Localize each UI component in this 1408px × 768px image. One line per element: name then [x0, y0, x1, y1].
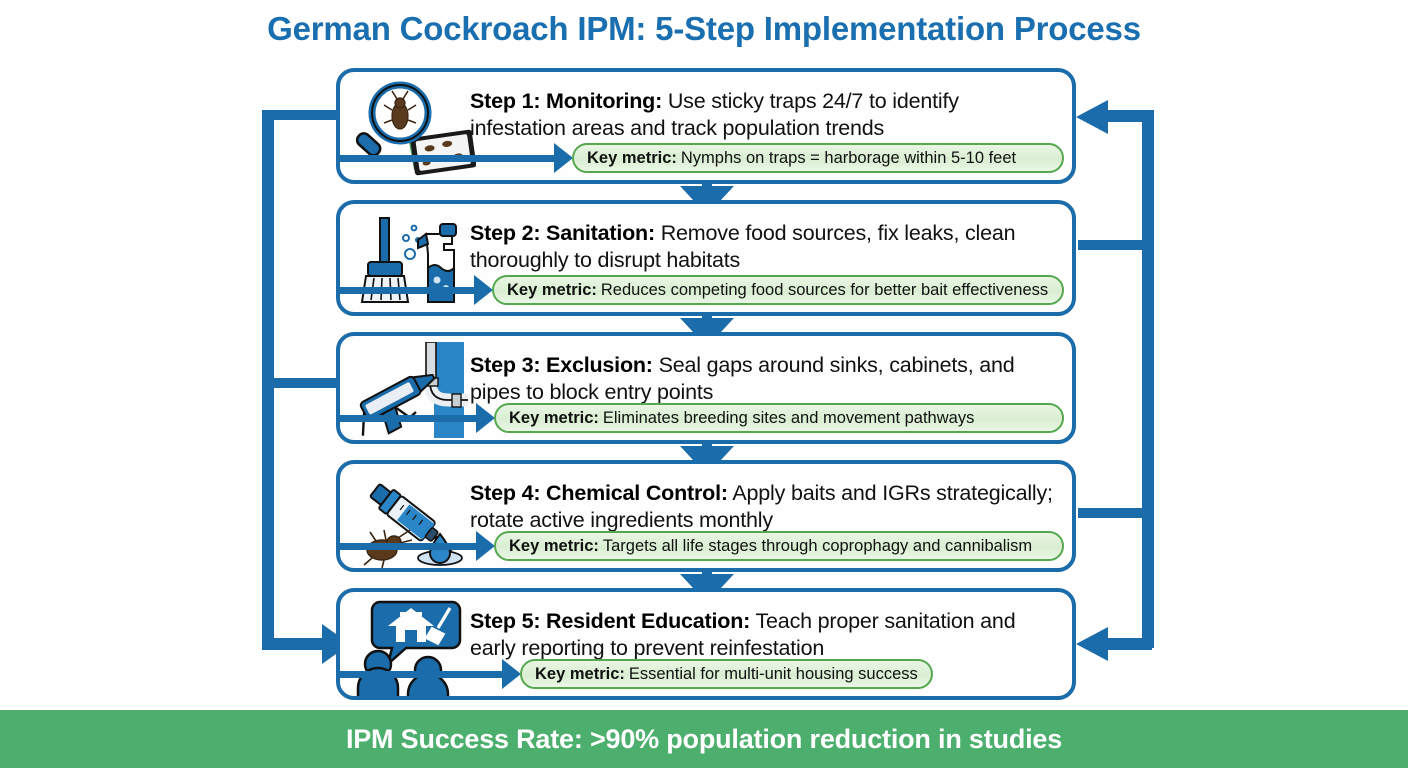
metric-label-2: Key metric:	[507, 281, 597, 300]
metric-value-3: Eliminates breeding sites and movement p…	[603, 409, 974, 428]
metric-label-5: Key metric:	[535, 665, 625, 684]
metric-label-1: Key metric:	[587, 149, 677, 168]
pill-arrow-4	[476, 531, 495, 561]
pill-arrow-2	[474, 275, 493, 305]
process-flow-diagram: Step 1: Monitoring: Use sticky traps 24/…	[0, 0, 1408, 710]
step-card-5[interactable]: Step 5: Resident Education: Teach proper…	[336, 588, 1076, 700]
step-heading-4: Step 4: Chemical Control:	[470, 481, 728, 505]
pill-lead-line-2	[340, 287, 480, 294]
pill-lead-line-5	[340, 671, 508, 678]
step-text-4: Step 4: Chemical Control: Apply baits an…	[470, 480, 1060, 534]
step-text-3: Step 3: Exclusion: Seal gaps around sink…	[470, 352, 1060, 406]
syringe-bait-cockroach-icon	[348, 470, 476, 570]
pill-arrow-3	[476, 403, 495, 433]
caulk-gun-pipe-icon	[348, 342, 476, 442]
key-metric-pill-5: Key metric: Essential for multi-unit hou…	[520, 659, 933, 689]
metric-value-2: Reduces competing food sources for bette…	[601, 281, 1048, 300]
metric-label-3: Key metric:	[509, 409, 599, 428]
metric-value-1: Nymphs on traps = harborage within 5-10 …	[681, 149, 1016, 168]
step-text-2: Step 2: Sanitation: Remove food sources,…	[470, 220, 1060, 274]
key-metric-pill-1: Key metric: Nymphs on traps = harborage …	[572, 143, 1064, 173]
step-card-2[interactable]: Step 2: Sanitation: Remove food sources,…	[336, 200, 1076, 316]
step-heading-3: Step 3: Exclusion:	[470, 353, 653, 377]
step-card-3[interactable]: Step 3: Exclusion: Seal gaps around sink…	[336, 332, 1076, 444]
pill-lead-line-3	[340, 415, 482, 422]
step-text-5: Step 5: Resident Education: Teach proper…	[470, 608, 1060, 662]
step-heading-2: Step 2: Sanitation:	[470, 221, 655, 245]
metric-label-4: Key metric:	[509, 537, 599, 556]
key-metric-pill-3: Key metric: Eliminates breeding sites an…	[494, 403, 1064, 433]
pill-arrow-5	[502, 659, 521, 689]
step-text-1: Step 1: Monitoring: Use sticky traps 24/…	[470, 88, 1060, 142]
pill-arrow-1	[554, 143, 573, 173]
magnifier-cockroach-sticky-trap-icon	[348, 78, 476, 178]
step-heading-5: Step 5: Resident Education:	[470, 609, 750, 633]
footer-banner: IPM Success Rate: >90% population reduct…	[0, 710, 1408, 768]
pill-lead-line-4	[340, 543, 482, 550]
step-heading-1: Step 1: Monitoring:	[470, 89, 662, 113]
people-speech-bubble-house-broom-icon	[348, 598, 476, 698]
step-card-4[interactable]: Step 4: Chemical Control: Apply baits an…	[336, 460, 1076, 572]
step-card-1[interactable]: Step 1: Monitoring: Use sticky traps 24/…	[336, 68, 1076, 184]
broom-spray-bottle-icon	[348, 210, 476, 310]
key-metric-pill-2: Key metric: Reduces competing food sourc…	[492, 275, 1064, 305]
metric-value-5: Essential for multi-unit housing success	[629, 665, 918, 684]
metric-value-4: Targets all life stages through copropha…	[603, 537, 1032, 556]
footer-text: IPM Success Rate: >90% population reduct…	[346, 724, 1062, 755]
pill-lead-line-1	[340, 155, 560, 162]
key-metric-pill-4: Key metric: Targets all life stages thro…	[494, 531, 1064, 561]
